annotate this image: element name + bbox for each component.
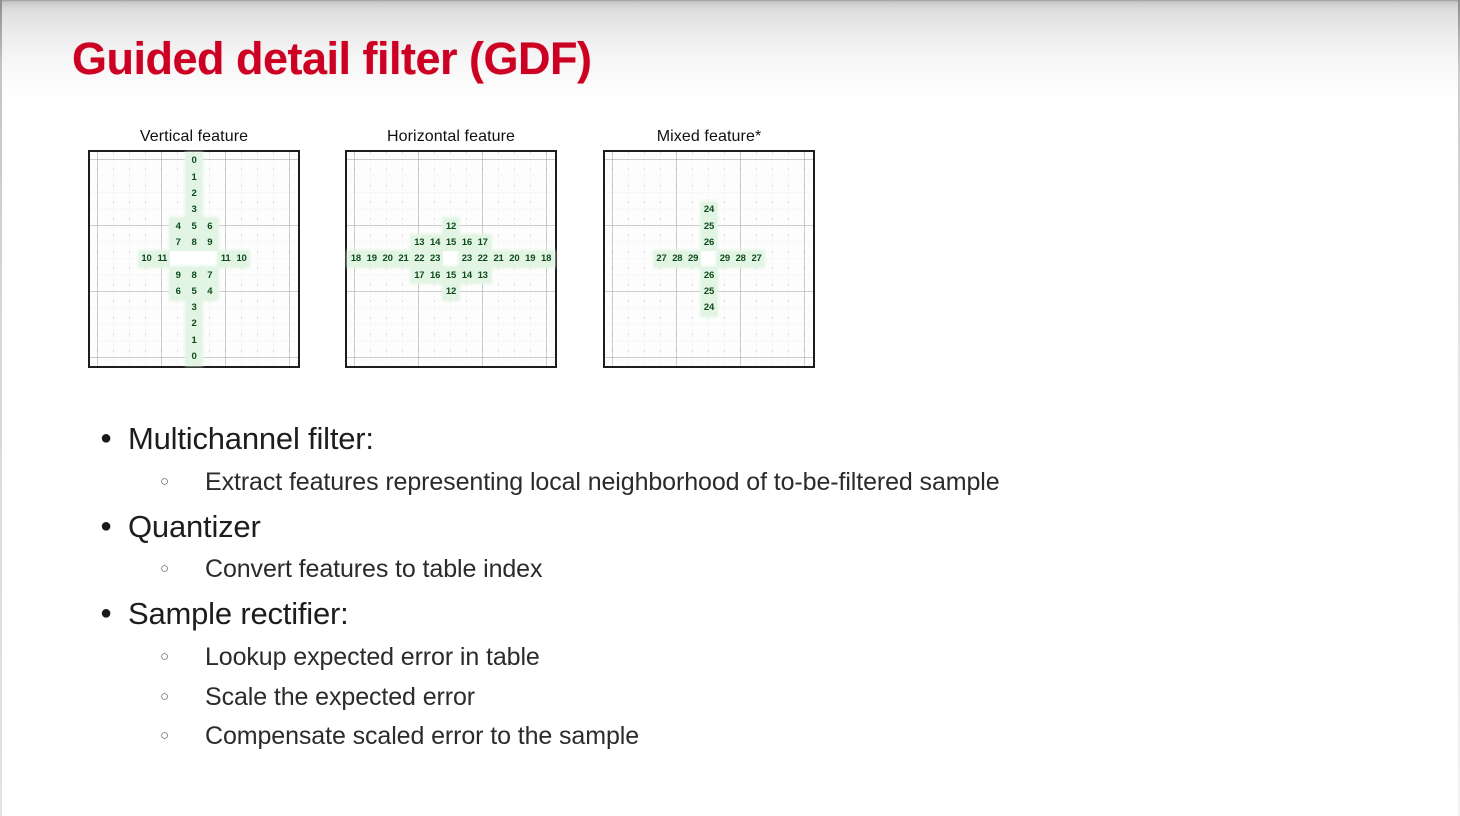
grid-cell-empty <box>380 283 396 299</box>
slide-canvas: Guided detail filter (GDF) Vertical feat… <box>0 0 1460 816</box>
grid-cell-empty <box>249 300 265 316</box>
grid-cell-empty <box>622 202 638 218</box>
grid-cell-empty <box>606 235 622 251</box>
grid-cell-empty <box>749 349 765 365</box>
grid-cell-value: 19 <box>522 251 538 267</box>
grid-cell-empty <box>733 349 749 365</box>
grid-cell-empty <box>638 316 654 332</box>
grid-cell-empty <box>638 349 654 365</box>
grid-cell-empty <box>717 169 733 185</box>
grid-cell-empty <box>170 300 186 316</box>
grid-cell-empty <box>249 316 265 332</box>
grid-cell-empty <box>265 283 281 299</box>
grid-cells-mixed: 242526272829292827262524 <box>605 152 813 366</box>
grid-cell-empty <box>91 251 107 267</box>
grid-cell-empty <box>717 218 733 234</box>
grid-cell-empty <box>380 267 396 283</box>
grid-cell-value: 17 <box>411 267 427 283</box>
grid-cell-empty <box>380 235 396 251</box>
grid-cell-empty <box>685 267 701 283</box>
grid-cell-empty <box>606 202 622 218</box>
grid-cell-empty <box>123 153 139 169</box>
grid-cell-empty <box>123 251 139 267</box>
grid-cell-empty <box>606 218 622 234</box>
grid-cell-empty <box>796 153 812 169</box>
grid-cell-empty <box>154 218 170 234</box>
grid-cell-empty <box>491 332 507 348</box>
grid-cell-empty <box>281 169 297 185</box>
grid-cell-empty <box>396 267 412 283</box>
grid-cell-empty <box>348 169 364 185</box>
grid-cell-empty <box>411 186 427 202</box>
grid-cell-empty <box>170 186 186 202</box>
grid-cell-empty <box>218 267 234 283</box>
grid-cell-empty <box>538 267 554 283</box>
grid-cell-empty <box>427 153 443 169</box>
grid-cell-empty <box>443 332 459 348</box>
grid-cell-empty <box>249 169 265 185</box>
grid-cell-empty <box>475 332 491 348</box>
grid-cell-empty <box>91 349 107 365</box>
grid-cell-empty <box>780 316 796 332</box>
grid-cell-empty <box>249 153 265 169</box>
grid-cell-empty <box>459 186 475 202</box>
grid-cell-empty <box>733 202 749 218</box>
grid-cell-empty <box>348 218 364 234</box>
grid-cell-empty <box>281 283 297 299</box>
grid-cell-empty <box>107 300 123 316</box>
grid-cell-value: 25 <box>701 283 717 299</box>
page-title: Guided detail filter (GDF) <box>72 33 592 85</box>
grid-cell-empty <box>123 316 139 332</box>
grid-cell-empty <box>538 332 554 348</box>
grid-cell-empty <box>764 186 780 202</box>
grid-cell-empty <box>749 235 765 251</box>
grid-cell-empty <box>364 235 380 251</box>
grid-cell-empty <box>265 186 281 202</box>
grid-cell-empty <box>685 332 701 348</box>
grid-cell-value: 6 <box>202 218 218 234</box>
grid-cell-empty <box>123 349 139 365</box>
grid-cell-center <box>701 251 717 267</box>
grid-cell-empty <box>764 169 780 185</box>
grid-cell-empty <box>202 332 218 348</box>
grid-cell-empty <box>622 186 638 202</box>
grid-cell-empty <box>733 153 749 169</box>
grid-cell-empty <box>733 218 749 234</box>
grid-cell-empty <box>364 332 380 348</box>
grid-cell-empty <box>139 349 155 365</box>
grid-cell-empty <box>654 349 670 365</box>
grid-cell-empty <box>622 332 638 348</box>
grid-cell-empty <box>506 267 522 283</box>
grid-cell-empty <box>249 349 265 365</box>
grid-cell-empty <box>701 186 717 202</box>
grid-cell-empty <box>396 316 412 332</box>
sub-bullet-circle-icon: ○ <box>160 474 205 489</box>
grid-cell-value: 16 <box>459 235 475 251</box>
grid-cell-empty <box>701 349 717 365</box>
grid-cell-empty <box>622 153 638 169</box>
grid-cell-empty <box>139 300 155 316</box>
grid-cell-value: 15 <box>443 267 459 283</box>
grid-cell-empty <box>606 251 622 267</box>
grid-cell-empty <box>107 251 123 267</box>
grid-mixed-feature: 242526272829292827262524 <box>603 150 815 368</box>
grid-cell-empty <box>506 316 522 332</box>
grid-cell-empty <box>380 316 396 332</box>
grid-cell-empty <box>654 283 670 299</box>
grid-cell-empty <box>396 153 412 169</box>
grid-cell-empty <box>522 332 538 348</box>
grid-cell-value: 22 <box>475 251 491 267</box>
grid-cell-empty <box>348 186 364 202</box>
grid-cell-empty <box>364 169 380 185</box>
grid-cell-empty <box>396 283 412 299</box>
grid-cell-empty <box>764 283 780 299</box>
bullet-label: Sample rectifier: <box>128 593 349 636</box>
grid-cell-empty <box>685 235 701 251</box>
grid-cell-value: 7 <box>170 235 186 251</box>
grid-cell-empty <box>506 153 522 169</box>
grid-cell-empty <box>348 300 364 316</box>
grid-cell-empty <box>733 283 749 299</box>
grid-cell-empty <box>202 169 218 185</box>
grid-cell-empty <box>606 186 622 202</box>
grid-cell-empty <box>506 218 522 234</box>
grid-cell-empty <box>522 218 538 234</box>
grid-cell-value: 8 <box>186 267 202 283</box>
grid-cell-empty <box>506 202 522 218</box>
grid-cell-empty <box>364 202 380 218</box>
grid-cell-empty <box>154 316 170 332</box>
sub-bullet-item: ○Compensate scaled error to the sample <box>160 717 1300 756</box>
grid-cell-empty <box>139 316 155 332</box>
grid-cell-value: 12 <box>443 218 459 234</box>
grid-cell-empty <box>780 186 796 202</box>
grid-cell-empty <box>764 153 780 169</box>
grid-cell-empty <box>427 169 443 185</box>
grid-cell-empty <box>764 267 780 283</box>
grid-cell-empty <box>638 169 654 185</box>
grid-cell-value: 20 <box>506 251 522 267</box>
grid-cell-empty <box>396 332 412 348</box>
grid-cell-empty <box>491 218 507 234</box>
grid-cell-empty <box>380 332 396 348</box>
grid-cell-empty <box>91 316 107 332</box>
grid-cell-empty <box>522 316 538 332</box>
grid-cell-empty <box>780 349 796 365</box>
grid-cell-value: 9 <box>202 235 218 251</box>
grid-cell-empty <box>491 267 507 283</box>
grid-cell-empty <box>475 300 491 316</box>
grid-cell-empty <box>796 267 812 283</box>
grid-cell-empty <box>427 186 443 202</box>
grid-cell-empty <box>265 332 281 348</box>
grid-cell-empty <box>91 332 107 348</box>
grid-cell-value: 27 <box>654 251 670 267</box>
grid-cell-empty <box>654 300 670 316</box>
grid-cell-empty <box>459 153 475 169</box>
grid-cell-value: 2 <box>186 186 202 202</box>
grid-cell-empty <box>669 283 685 299</box>
grid-cell-empty <box>427 300 443 316</box>
grid-cell-empty <box>281 186 297 202</box>
grid-cell-empty <box>281 251 297 267</box>
grid-cell-empty <box>123 267 139 283</box>
grid-cell-empty <box>780 251 796 267</box>
grid-cell-empty <box>154 300 170 316</box>
grid-cell-empty <box>491 300 507 316</box>
grid-cell-empty <box>654 218 670 234</box>
bullet-group: ●Multichannel filter:○Extract features r… <box>100 418 1300 502</box>
sub-bullet-label: Convert features to table index <box>205 550 542 589</box>
grid-cell-empty <box>396 300 412 316</box>
grid-cell-empty <box>139 153 155 169</box>
grid-cell-empty <box>364 316 380 332</box>
grid-cell-empty <box>154 235 170 251</box>
grid-cell-empty <box>506 349 522 365</box>
grid-cell-empty <box>764 300 780 316</box>
grid-cell-empty <box>749 267 765 283</box>
grid-cell-empty <box>380 169 396 185</box>
grid-cell-value: 13 <box>411 235 427 251</box>
grid-cell-empty <box>796 300 812 316</box>
grid-cell-value: 1 <box>186 332 202 348</box>
grid-cell-empty <box>348 267 364 283</box>
grid-cell-empty <box>506 332 522 348</box>
grid-cell-value: 25 <box>701 218 717 234</box>
grid-cell-empty <box>281 300 297 316</box>
grid-cell-empty <box>669 218 685 234</box>
grid-cell-value: 5 <box>186 283 202 299</box>
grid-cell-empty <box>654 332 670 348</box>
grid-cell-center <box>170 251 186 267</box>
grid-cell-empty <box>796 332 812 348</box>
grid-cell-empty <box>443 349 459 365</box>
grid-cell-empty <box>669 300 685 316</box>
grid-cell-empty <box>622 251 638 267</box>
grid-cell-empty <box>123 186 139 202</box>
grid-cell-value: 15 <box>443 235 459 251</box>
grid-cell-empty <box>796 251 812 267</box>
grid-cell-empty <box>281 235 297 251</box>
grid-cell-empty <box>522 235 538 251</box>
grid-cell-empty <box>459 169 475 185</box>
grid-cell-empty <box>749 202 765 218</box>
grid-cell-empty <box>107 218 123 234</box>
grid-cell-empty <box>764 332 780 348</box>
grid-cell-empty <box>265 153 281 169</box>
grid-cell-empty <box>796 316 812 332</box>
grid-cell-empty <box>638 235 654 251</box>
grid-cell-empty <box>522 300 538 316</box>
grid-cell-empty <box>701 153 717 169</box>
grid-cell-empty <box>475 316 491 332</box>
grid-cell-empty <box>654 153 670 169</box>
grid-cell-empty <box>622 349 638 365</box>
grid-cell-value: 1 <box>186 169 202 185</box>
grid-cell-empty <box>281 218 297 234</box>
grid-cell-empty <box>491 202 507 218</box>
grid-horizontal-feature: 1213141516171819202122232322212019181716… <box>345 150 557 368</box>
grid-cell-value: 18 <box>348 251 364 267</box>
sub-bullet-circle-icon: ○ <box>160 728 205 743</box>
grid-cell-value: 6 <box>170 283 186 299</box>
grid-cell-empty <box>654 235 670 251</box>
grid-cell-empty <box>685 202 701 218</box>
grid-cell-empty <box>622 300 638 316</box>
grid-cell-empty <box>606 300 622 316</box>
bullet-dot-icon: ● <box>100 428 128 448</box>
grid-cell-empty <box>154 169 170 185</box>
grid-cell-empty <box>506 283 522 299</box>
grid-cell-empty <box>234 153 250 169</box>
grid-cell-empty <box>218 218 234 234</box>
grid-cell-value: 21 <box>491 251 507 267</box>
grid-cell-empty <box>796 186 812 202</box>
sub-bullet-item: ○Extract features representing local nei… <box>160 463 1300 502</box>
grid-cell-empty <box>443 169 459 185</box>
grid-cell-empty <box>107 235 123 251</box>
grid-cell-empty <box>717 316 733 332</box>
grid-cell-empty <box>749 283 765 299</box>
grid-cell-empty <box>669 349 685 365</box>
grid-cell-empty <box>411 316 427 332</box>
grid-cell-empty <box>506 169 522 185</box>
grid-cell-empty <box>123 332 139 348</box>
grid-cell-empty <box>685 300 701 316</box>
sub-bullet-circle-icon: ○ <box>160 649 205 664</box>
grid-cell-empty <box>780 235 796 251</box>
grid-cell-empty <box>139 202 155 218</box>
grid-cell-empty <box>123 300 139 316</box>
grid-cell-empty <box>443 186 459 202</box>
slide-left-edge <box>0 0 2 816</box>
grid-cell-empty <box>348 283 364 299</box>
grid-cell-empty <box>475 153 491 169</box>
grid-cell-empty <box>170 202 186 218</box>
grid-cell-empty <box>622 218 638 234</box>
grid-cell-empty <box>606 349 622 365</box>
grid-cells-horizontal: 1213141516171819202122232322212019181716… <box>347 152 555 366</box>
grid-cell-empty <box>396 218 412 234</box>
grid-cell-empty <box>281 332 297 348</box>
grid-cell-empty <box>606 316 622 332</box>
grid-cell-empty <box>459 349 475 365</box>
sub-bullet-item: ○Scale the expected error <box>160 678 1300 717</box>
grid-cell-empty <box>538 300 554 316</box>
grid-cell-empty <box>348 153 364 169</box>
grid-cell-empty <box>107 349 123 365</box>
grid-cell-empty <box>234 218 250 234</box>
grid-cell-empty <box>538 218 554 234</box>
grid-cell-empty <box>218 300 234 316</box>
grid-cell-empty <box>638 251 654 267</box>
grid-cell-empty <box>380 218 396 234</box>
grid-cell-empty <box>638 202 654 218</box>
grid-cell-empty <box>427 316 443 332</box>
grid-cell-empty <box>139 218 155 234</box>
grid-cell-empty <box>234 300 250 316</box>
grid-cell-empty <box>234 316 250 332</box>
grid-cell-empty <box>107 283 123 299</box>
grid-cell-empty <box>91 283 107 299</box>
grid-cell-empty <box>733 316 749 332</box>
grid-cell-empty <box>281 267 297 283</box>
grid-cell-value: 4 <box>202 283 218 299</box>
grid-cell-value: 20 <box>380 251 396 267</box>
grid-cell-empty <box>380 186 396 202</box>
grid-cell-empty <box>796 218 812 234</box>
grid-vertical-feature: 0123456789101111109876543210 <box>88 150 300 368</box>
grid-cell-empty <box>717 186 733 202</box>
grid-cell-empty <box>749 316 765 332</box>
grid-cell-empty <box>218 235 234 251</box>
grid-cell-empty <box>411 349 427 365</box>
grid-cell-empty <box>427 202 443 218</box>
bullet-label: Quantizer <box>128 506 261 549</box>
grid-cell-empty <box>91 267 107 283</box>
grid-cell-empty <box>234 283 250 299</box>
grid-cell-empty <box>396 235 412 251</box>
sub-bullet-label: Extract features representing local neig… <box>205 463 1000 502</box>
grid-cell-empty <box>491 349 507 365</box>
grid-cell-empty <box>91 235 107 251</box>
grid-cell-empty <box>249 267 265 283</box>
grid-cell-value: 0 <box>186 153 202 169</box>
figure-caption-vertical: Vertical feature <box>88 128 300 146</box>
grid-cell-value: 0 <box>186 349 202 365</box>
grid-cell-empty <box>107 202 123 218</box>
grid-cell-value: 11 <box>154 251 170 267</box>
grid-cell-empty <box>218 316 234 332</box>
grid-cell-value: 3 <box>186 202 202 218</box>
grid-cell-empty <box>154 267 170 283</box>
grid-cell-empty <box>780 267 796 283</box>
grid-cell-empty <box>107 169 123 185</box>
grid-cell-empty <box>638 267 654 283</box>
grid-cell-empty <box>364 153 380 169</box>
grid-cell-empty <box>780 283 796 299</box>
grid-cell-center <box>443 251 459 267</box>
grid-cell-empty <box>281 202 297 218</box>
grid-cell-empty <box>522 202 538 218</box>
grid-cell-empty <box>139 267 155 283</box>
grid-cell-empty <box>249 202 265 218</box>
grid-cell-empty <box>475 186 491 202</box>
grid-cell-empty <box>749 169 765 185</box>
grid-cell-empty <box>733 235 749 251</box>
grid-cell-empty <box>265 218 281 234</box>
grid-cell-empty <box>249 186 265 202</box>
grid-cell-empty <box>764 316 780 332</box>
grid-cell-empty <box>669 169 685 185</box>
grid-cell-empty <box>654 186 670 202</box>
grid-cell-empty <box>701 316 717 332</box>
grid-cell-empty <box>638 218 654 234</box>
grid-cell-empty <box>669 235 685 251</box>
grid-cell-empty <box>218 169 234 185</box>
grid-cell-empty <box>396 202 412 218</box>
grid-cell-empty <box>123 202 139 218</box>
grid-cell-empty <box>780 202 796 218</box>
grid-cell-empty <box>538 169 554 185</box>
grid-cell-empty <box>123 235 139 251</box>
grid-cell-empty <box>380 300 396 316</box>
grid-cell-empty <box>796 235 812 251</box>
grid-cell-empty <box>622 316 638 332</box>
